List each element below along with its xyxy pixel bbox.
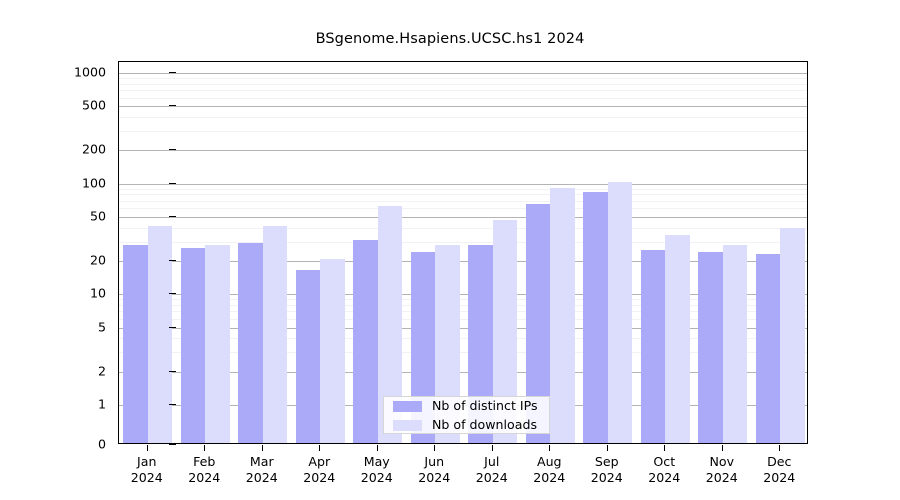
x-tick-year: 2024	[763, 470, 795, 486]
y-tick-label: 500	[60, 98, 106, 113]
x-tick-mark	[262, 445, 263, 451]
x-tick-year: 2024	[648, 470, 680, 486]
x-tick-month: Jan	[131, 454, 163, 470]
x-tick-label: Dec2024	[763, 454, 795, 485]
x-tick-month: Feb	[188, 454, 220, 470]
x-tick-month: Jun	[418, 454, 450, 470]
y-tick-label: 0	[60, 437, 106, 452]
gridline-minor	[119, 194, 807, 195]
gridline-minor	[119, 131, 807, 132]
x-tick-label: May2024	[361, 454, 393, 485]
y-tick-mark	[169, 72, 176, 73]
y-tick-mark	[169, 327, 176, 328]
bar	[665, 235, 690, 443]
bar	[123, 245, 148, 443]
gridline-major	[119, 106, 807, 107]
bar	[353, 240, 378, 443]
x-tick-month: Sep	[591, 454, 623, 470]
x-tick-year: 2024	[418, 470, 450, 486]
gridline-major	[119, 184, 807, 185]
legend-item-downloads[interactable]: Nb of downloads	[384, 416, 551, 435]
y-tick-mark	[169, 105, 176, 106]
y-tick-label: 1	[60, 397, 106, 412]
x-tick-mark	[204, 445, 205, 451]
gridline-minor	[119, 98, 807, 99]
gridline-minor	[119, 208, 807, 209]
y-tick-mark	[169, 216, 176, 217]
gridline-minor	[119, 228, 807, 229]
bar	[583, 192, 608, 443]
y-axis: 01251020501002005001000	[58, 61, 106, 444]
bar	[698, 252, 723, 443]
gridline-minor	[119, 189, 807, 190]
x-tick-mark	[147, 445, 148, 451]
y-tick-label: 200	[60, 142, 106, 157]
x-tick-year: 2024	[476, 470, 508, 486]
x-tick-label: Jun2024	[418, 454, 450, 485]
x-tick-label: Jan2024	[131, 454, 163, 485]
y-tick-label: 10	[60, 286, 106, 301]
x-tick-month: Oct	[648, 454, 680, 470]
x-tick-label: Jul2024	[476, 454, 508, 485]
gridline-minor	[119, 78, 807, 79]
chart-figure: BSgenome.Hsapiens.UCSC.hs1 2024 01251020…	[0, 0, 900, 500]
y-tick-mark	[169, 404, 176, 405]
bar	[205, 245, 230, 443]
legend-label-distinct-ips: Nb of distinct IPs	[432, 398, 538, 413]
gridline-minor	[119, 84, 807, 85]
x-tick-label: Aug2024	[533, 454, 565, 485]
gridline-major	[119, 150, 807, 151]
plot-area	[118, 61, 808, 444]
y-tick-label: 20	[60, 253, 106, 268]
bar	[608, 182, 633, 443]
x-tick-mark	[319, 445, 320, 451]
bar	[550, 188, 575, 443]
x-tick-year: 2024	[361, 470, 393, 486]
x-axis: Jan2024Feb2024Mar2024Apr2024May2024Jun20…	[118, 445, 808, 493]
gridline-minor	[119, 242, 807, 243]
bar	[296, 270, 321, 443]
bar	[780, 228, 805, 443]
x-tick-month: Apr	[303, 454, 335, 470]
x-tick-month: May	[361, 454, 393, 470]
y-tick-label: 100	[60, 175, 106, 190]
x-tick-year: 2024	[303, 470, 335, 486]
y-tick-label: 50	[60, 208, 106, 223]
legend-swatch-distinct-ips	[393, 401, 422, 412]
bar	[238, 243, 263, 443]
x-tick-label: Nov2024	[706, 454, 738, 485]
y-tick-mark	[169, 183, 176, 184]
y-tick-mark	[169, 293, 176, 294]
x-tick-mark	[492, 445, 493, 451]
bar	[148, 226, 173, 443]
legend-item-distinct-ips[interactable]: Nb of distinct IPs	[384, 397, 551, 416]
gridline-major	[119, 217, 807, 218]
y-tick-label: 1000	[60, 65, 106, 80]
x-tick-month: Dec	[763, 454, 795, 470]
x-tick-year: 2024	[591, 470, 623, 486]
x-tick-year: 2024	[188, 470, 220, 486]
x-tick-mark	[664, 445, 665, 451]
y-tick-label: 2	[60, 363, 106, 378]
x-tick-label: Sep2024	[591, 454, 623, 485]
x-tick-month: Aug	[533, 454, 565, 470]
gridline-major	[119, 73, 807, 74]
legend-label-downloads: Nb of downloads	[432, 417, 537, 432]
chart-title: BSgenome.Hsapiens.UCSC.hs1 2024	[0, 31, 900, 47]
bar	[641, 250, 666, 443]
x-tick-year: 2024	[533, 470, 565, 486]
x-tick-year: 2024	[246, 470, 278, 486]
x-tick-mark	[779, 445, 780, 451]
x-tick-mark	[549, 445, 550, 451]
x-tick-year: 2024	[706, 470, 738, 486]
x-tick-mark	[377, 445, 378, 451]
x-tick-month: Mar	[246, 454, 278, 470]
y-tick-mark	[169, 260, 176, 261]
bar	[181, 248, 206, 443]
chart-legend[interactable]: Nb of distinct IPs Nb of downloads	[383, 396, 550, 434]
y-tick-mark	[169, 149, 176, 150]
y-tick-label: 5	[60, 319, 106, 334]
x-tick-label: Apr2024	[303, 454, 335, 485]
x-tick-label: Oct2024	[648, 454, 680, 485]
x-tick-mark	[434, 445, 435, 451]
legend-swatch-downloads	[393, 420, 422, 431]
gridline-minor	[119, 90, 807, 91]
gridline-minor	[119, 201, 807, 202]
x-tick-month: Jul	[476, 454, 508, 470]
x-tick-year: 2024	[131, 470, 163, 486]
bar	[263, 226, 288, 443]
x-tick-label: Feb2024	[188, 454, 220, 485]
x-tick-mark	[607, 445, 608, 451]
x-tick-label: Mar2024	[246, 454, 278, 485]
bar	[756, 254, 781, 443]
x-tick-month: Nov	[706, 454, 738, 470]
y-tick-mark	[169, 371, 176, 372]
gridline-minor	[119, 117, 807, 118]
bar	[320, 259, 345, 443]
bar	[723, 245, 748, 443]
x-tick-mark	[722, 445, 723, 451]
